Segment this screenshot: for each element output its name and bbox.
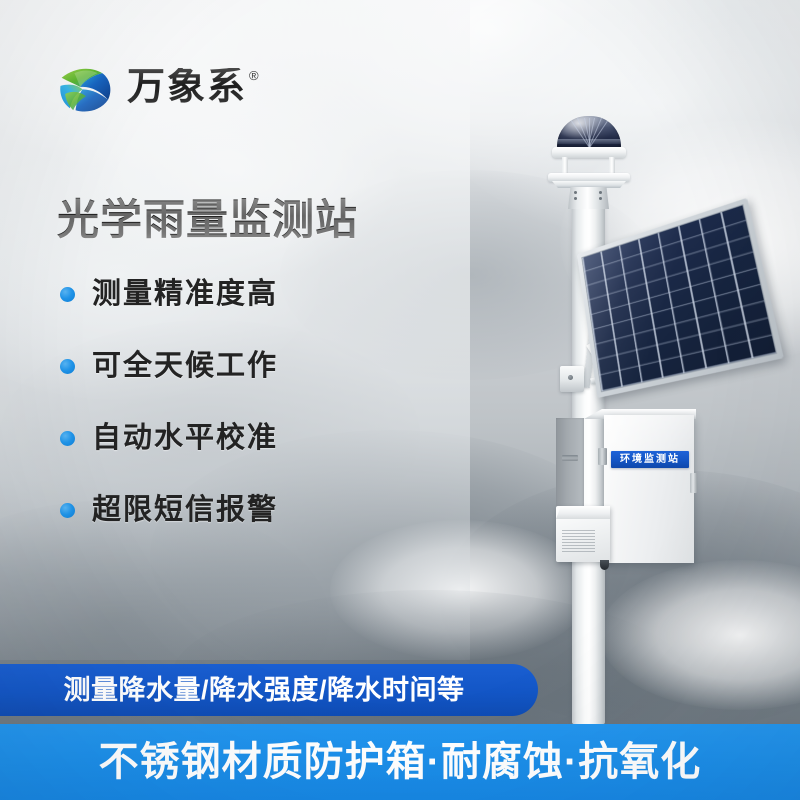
brand-logo[interactable]: 万象系 ® (57, 58, 259, 116)
measurement-pill-banner: 测量降水量/降水强度/降水时间等 (0, 664, 538, 716)
feature-list: 测量精准度高 可全天候工作 自动水平校准 超限短信报警 (60, 258, 278, 546)
registered-trademark-icon: ® (249, 69, 259, 82)
product-poster: 环境监测站 (0, 0, 800, 800)
junction-box-vent-grill (562, 530, 595, 552)
list-item: 可全天候工作 (60, 330, 278, 402)
brand-name: 万象系 (127, 68, 247, 106)
bottom-banner: 不锈钢材质防护箱·耐腐蚀·抗氧化 (0, 724, 800, 800)
list-item: 测量精准度高 (60, 258, 278, 330)
feature-label: 超限短信报警 (92, 496, 278, 525)
bullet-dot-icon (60, 431, 75, 446)
bullet-dot-icon (60, 503, 75, 518)
globe-swirl-logo-icon (57, 58, 115, 116)
list-item: 自动水平校准 (60, 402, 278, 474)
enclosure-hinge (598, 448, 607, 465)
bottom-banner-text: 不锈钢材质防护箱·耐腐蚀·抗氧化 (99, 742, 702, 782)
optical-rain-sensor-icon (546, 116, 632, 208)
sensor-mid-plate (548, 173, 630, 182)
pill-banner-text: 测量降水量/降水强度/降水时间等 (63, 677, 464, 704)
sensor-brim (552, 181, 626, 188)
enclosure-nameplate-text: 环境监测站 (620, 455, 680, 465)
feature-label: 自动水平校准 (92, 424, 278, 453)
enclosure-nameplate: 环境监测站 (611, 451, 689, 468)
sensor-dome (557, 116, 621, 150)
junction-box-lid (556, 506, 610, 519)
enclosure-latch (690, 473, 697, 493)
sensor-neck (568, 187, 609, 209)
stainless-steel-enclosure (604, 415, 694, 563)
bullet-dot-icon (60, 359, 75, 374)
feature-label: 可全天候工作 (92, 352, 278, 381)
list-item: 超限短信报警 (60, 474, 278, 546)
page-title: 光学雨量监测站 (57, 196, 358, 243)
feature-label: 测量精准度高 (92, 280, 278, 309)
enclosure-cable-gland (600, 560, 609, 570)
enclosure-side-vent (562, 455, 578, 461)
pole-clamp (560, 366, 584, 392)
bullet-dot-icon (60, 287, 75, 302)
